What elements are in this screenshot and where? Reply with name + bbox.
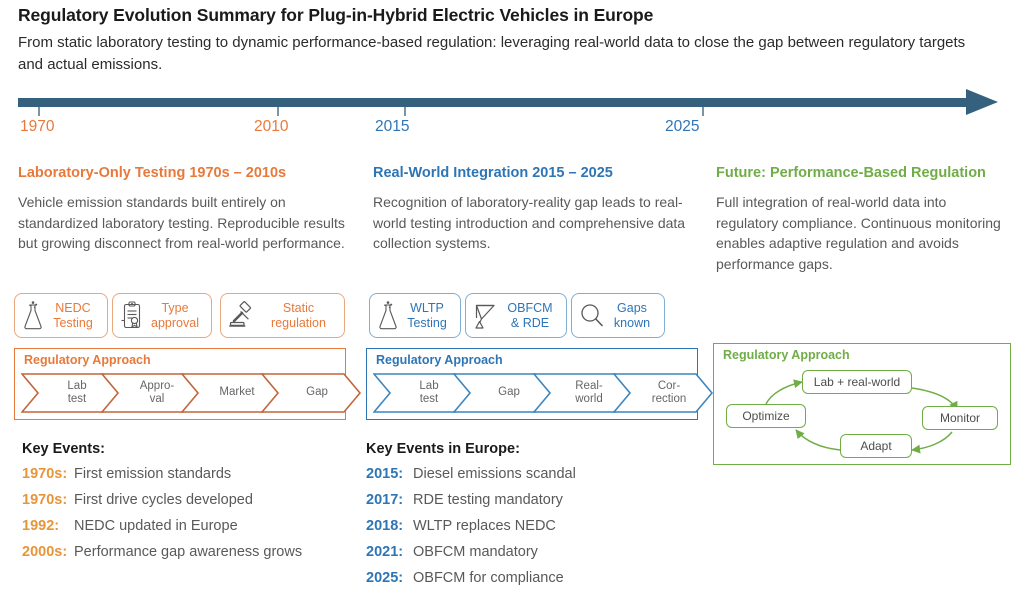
key-events-heading-realworld: Key Events in Europe: <box>366 441 520 457</box>
column-heading-laboratory: Laboratory-Only Testing 1970s – 2010s <box>18 165 286 181</box>
key-event-year: 1970s: <box>22 466 74 482</box>
page-subtitle: From static laboratory testing to dynami… <box>18 32 993 76</box>
card-static-regulation[interactable]: Static regulation <box>220 293 345 338</box>
card-label: WLTP Testing <box>399 301 460 331</box>
card-label: Type approval <box>144 301 211 331</box>
cycle-node-monitor[interactable]: Monitor <box>922 406 998 430</box>
timeline-year-label: 1970 <box>20 118 54 136</box>
column-body-realworld: Recognition of laboratory-reality gap le… <box>373 192 698 254</box>
card-obfcm-rde[interactable]: OBFCM & RDE <box>465 293 567 338</box>
key-event-text: OBFCM mandatory <box>413 544 538 560</box>
card-label: Static regulation <box>258 301 344 331</box>
key-event-row: 1970s:First drive cycles developed <box>22 492 253 508</box>
key-event-row: 1992:NEDC updated in Europe <box>22 518 238 534</box>
key-event-year: 2018: <box>366 518 413 534</box>
key-event-row: 2018:WLTP replaces NEDC <box>366 518 556 534</box>
key-event-year: 2021: <box>366 544 413 560</box>
cycle-node-lab-real-world[interactable]: Lab + real-world <box>802 370 912 394</box>
regulatory-approach-panel-future: Regulatory Approach Lab + real-world Mon… <box>713 343 1011 465</box>
key-event-row: 2025:OBFCM for compliance <box>366 570 564 586</box>
timeline-tick <box>404 107 406 116</box>
key-event-row: 1970s:First emission standards <box>22 466 231 482</box>
key-event-text: First emission standards <box>74 466 231 482</box>
magnifier-icon <box>579 302 605 330</box>
timeline-arrowhead-icon <box>966 89 998 115</box>
gavel-icon <box>228 301 258 331</box>
card-label: OBFCM & RDE <box>499 301 566 331</box>
timeline-year-label: 2025 <box>665 118 699 136</box>
flask-icon <box>377 301 399 331</box>
key-event-row: 2021:OBFCM mandatory <box>366 544 538 560</box>
column-body-future: Full integration of real-world data into… <box>716 192 1011 274</box>
chevron-label: Gap <box>261 373 361 413</box>
clipboard-certificate-icon <box>120 301 144 331</box>
regulatory-approach-title: Regulatory Approach <box>376 353 503 367</box>
regulatory-approach-title: Regulatory Approach <box>24 353 151 367</box>
card-nedc-testing[interactable]: NEDC Testing <box>14 293 108 338</box>
cycle-node-adapt[interactable]: Adapt <box>840 434 912 458</box>
page-title: Regulatory Evolution Summary for Plug-in… <box>18 5 1008 26</box>
column-body-laboratory: Vehicle emission standards built entirel… <box>18 192 350 254</box>
timeline-tick <box>702 107 704 116</box>
chevron-step[interactable]: Gap <box>261 373 361 413</box>
cycle-node-optimize[interactable]: Optimize <box>726 404 806 428</box>
key-event-year: 1992: <box>22 518 74 534</box>
timeline-tick <box>277 107 279 116</box>
key-event-year: 2000s: <box>22 544 74 560</box>
key-event-year: 2017: <box>366 492 413 508</box>
key-event-text: RDE testing mandatory <box>413 492 563 508</box>
column-heading-future: Future: Performance-Based Regulation <box>716 165 986 181</box>
key-event-row: 2017:RDE testing mandatory <box>366 492 563 508</box>
key-event-text: Performance gap awareness grows <box>74 544 302 560</box>
card-label: NEDC Testing <box>44 301 107 331</box>
key-event-text: OBFCM for compliance <box>413 570 564 586</box>
satellite-dish-icon <box>473 302 499 330</box>
key-events-heading-laboratory: Key Events: <box>22 441 105 457</box>
timeline-bar <box>18 98 978 107</box>
timeline-year-label: 2010 <box>254 118 288 136</box>
key-event-text: WLTP replaces NEDC <box>413 518 556 534</box>
key-event-row: 2000s:Performance gap awareness grows <box>22 544 302 560</box>
card-wltp-testing[interactable]: WLTP Testing <box>369 293 461 338</box>
infographic-page: Regulatory Evolution Summary for Plug-in… <box>0 0 1024 595</box>
card-type-approval[interactable]: Type approval <box>112 293 212 338</box>
key-event-year: 2015: <box>366 466 413 482</box>
key-event-text: First drive cycles developed <box>74 492 253 508</box>
card-gaps-known[interactable]: Gaps known <box>571 293 665 338</box>
key-event-text: Diesel emissions scandal <box>413 466 576 482</box>
chevron-label: Cor- rection <box>613 373 713 413</box>
key-event-year: 1970s: <box>22 492 74 508</box>
regulatory-approach-panel-realworld: Regulatory Approach Lab test Gap Real- w… <box>366 348 698 420</box>
key-event-row: 2015:Diesel emissions scandal <box>366 466 576 482</box>
timeline-year-label: 2015 <box>375 118 409 136</box>
timeline-tick <box>38 107 40 116</box>
regulatory-approach-panel-laboratory: Regulatory Approach Lab test Appro- val … <box>14 348 346 420</box>
column-heading-realworld: Real-World Integration 2015 – 2025 <box>373 165 613 181</box>
card-label: Gaps known <box>605 301 664 331</box>
key-event-year: 2025: <box>366 570 413 586</box>
flask-icon <box>22 301 44 331</box>
chevron-step[interactable]: Cor- rection <box>613 373 713 413</box>
key-event-text: NEDC updated in Europe <box>74 518 238 534</box>
